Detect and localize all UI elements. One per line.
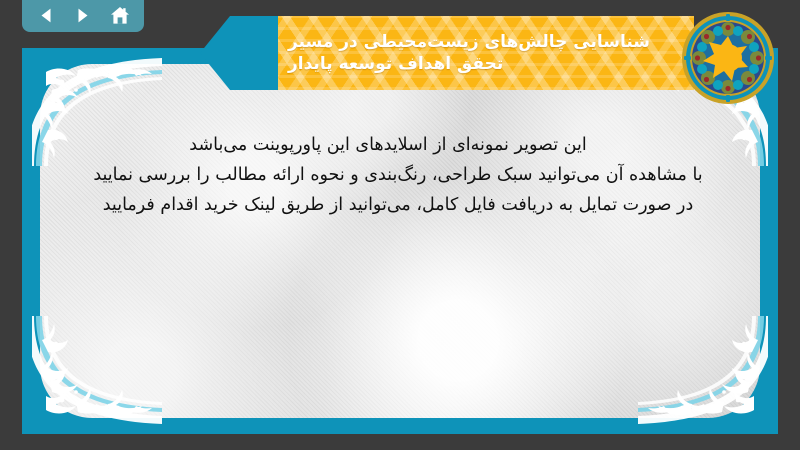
triangle-left-icon [38, 7, 55, 24]
title-banner-plate: شناسایی چالش‌های زیست‌محیطی در مسیر تحقق… [278, 16, 694, 90]
previous-slide-button[interactable] [31, 2, 61, 28]
home-button[interactable] [105, 2, 135, 28]
slide-body-text: این تصویر نمونه‌ای از اسلایدهای این پاور… [62, 130, 734, 220]
persian-medallion-ornament-icon [682, 12, 774, 104]
home-icon [110, 6, 130, 25]
title-line-1: شناسایی چالش‌های زیست‌محیطی در مسیر [288, 31, 650, 53]
slide: این تصویر نمونه‌ای از اسلایدهای این پاور… [22, 48, 778, 434]
slide-paper [40, 64, 760, 418]
slide-title-banner: شناسایی چالش‌های زیست‌محیطی در مسیر تحقق… [200, 16, 778, 90]
slide-viewer: این تصویر نمونه‌ای از اسلایدهای این پاور… [0, 0, 800, 450]
triangle-right-icon [74, 7, 91, 24]
body-line-3: در صورت تمایل به دریافت فایل کامل، می‌تو… [62, 190, 734, 220]
body-line-2: با مشاهده آن می‌توانید سبک طراحی، رنگ‌بن… [62, 160, 734, 190]
page-title: شناسایی چالش‌های زیست‌محیطی در مسیر تحقق… [278, 16, 694, 90]
title-line-2: تحقق اهداف توسعه پایدار [288, 53, 503, 75]
navigation-bar [22, 0, 144, 32]
next-slide-button[interactable] [68, 2, 98, 28]
body-line-1: این تصویر نمونه‌ای از اسلایدهای این پاور… [62, 130, 734, 160]
banner-chevron-shape [200, 16, 286, 90]
